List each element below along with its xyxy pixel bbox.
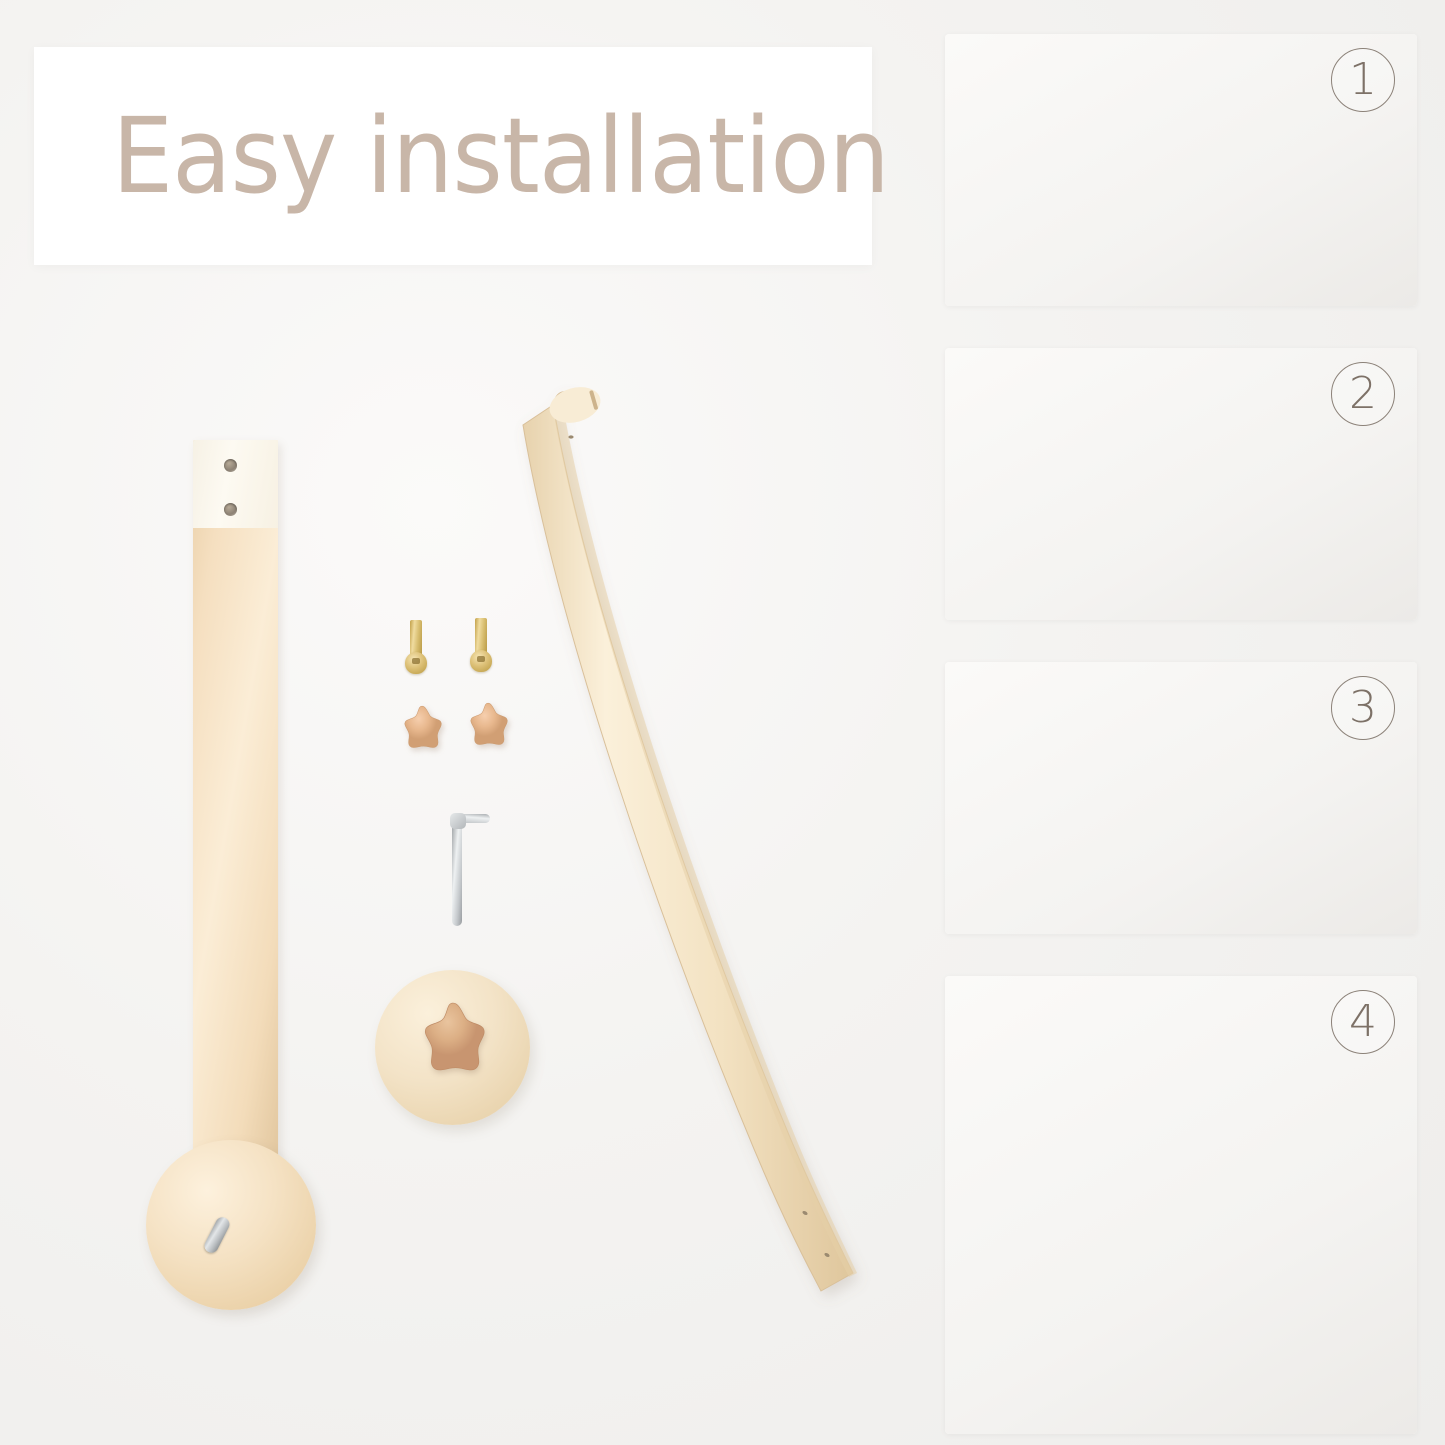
- title-banner: Easy installation: [34, 47, 872, 265]
- parts-layout: [0, 300, 910, 1420]
- step-panel-2[interactable]: 2: [945, 348, 1417, 620]
- allen-key-long-arm: [452, 820, 462, 926]
- part-bottom-wheel: [146, 1140, 316, 1310]
- part-vertical-post: [193, 440, 278, 1160]
- step-panel-1[interactable]: 1: [945, 34, 1417, 306]
- step-badge-1: 1: [1331, 48, 1395, 112]
- screw-hex-socket: [477, 656, 485, 662]
- post-screw-hole-lower: [224, 503, 237, 516]
- post-top-bracket: [193, 440, 278, 528]
- part-allen-key: [440, 808, 490, 926]
- step-badge-2: 2: [1331, 362, 1395, 426]
- page-title: Easy installation: [112, 104, 889, 208]
- step-badge-4: 4: [1331, 990, 1395, 1054]
- part-star-knob-left: [396, 703, 448, 755]
- installation-steps: 1: [945, 34, 1417, 1434]
- post-screw-hole-upper: [224, 459, 237, 472]
- allen-key-elbow: [450, 813, 466, 829]
- wheel-metal-pin: [202, 1215, 232, 1255]
- screw-hex-socket: [412, 658, 420, 664]
- step-badge-3: 3: [1331, 676, 1395, 740]
- step-panel-3[interactable]: 3: [945, 662, 1417, 934]
- part-brass-screw-left: [405, 620, 427, 682]
- part-brass-screw-right: [470, 618, 492, 680]
- step-panel-4[interactable]: 4: [945, 976, 1417, 1434]
- infographic-canvas: Easy installation: [0, 0, 1445, 1445]
- part-curved-arm: [505, 375, 905, 1375]
- base-disc-star-knob: [411, 998, 495, 1082]
